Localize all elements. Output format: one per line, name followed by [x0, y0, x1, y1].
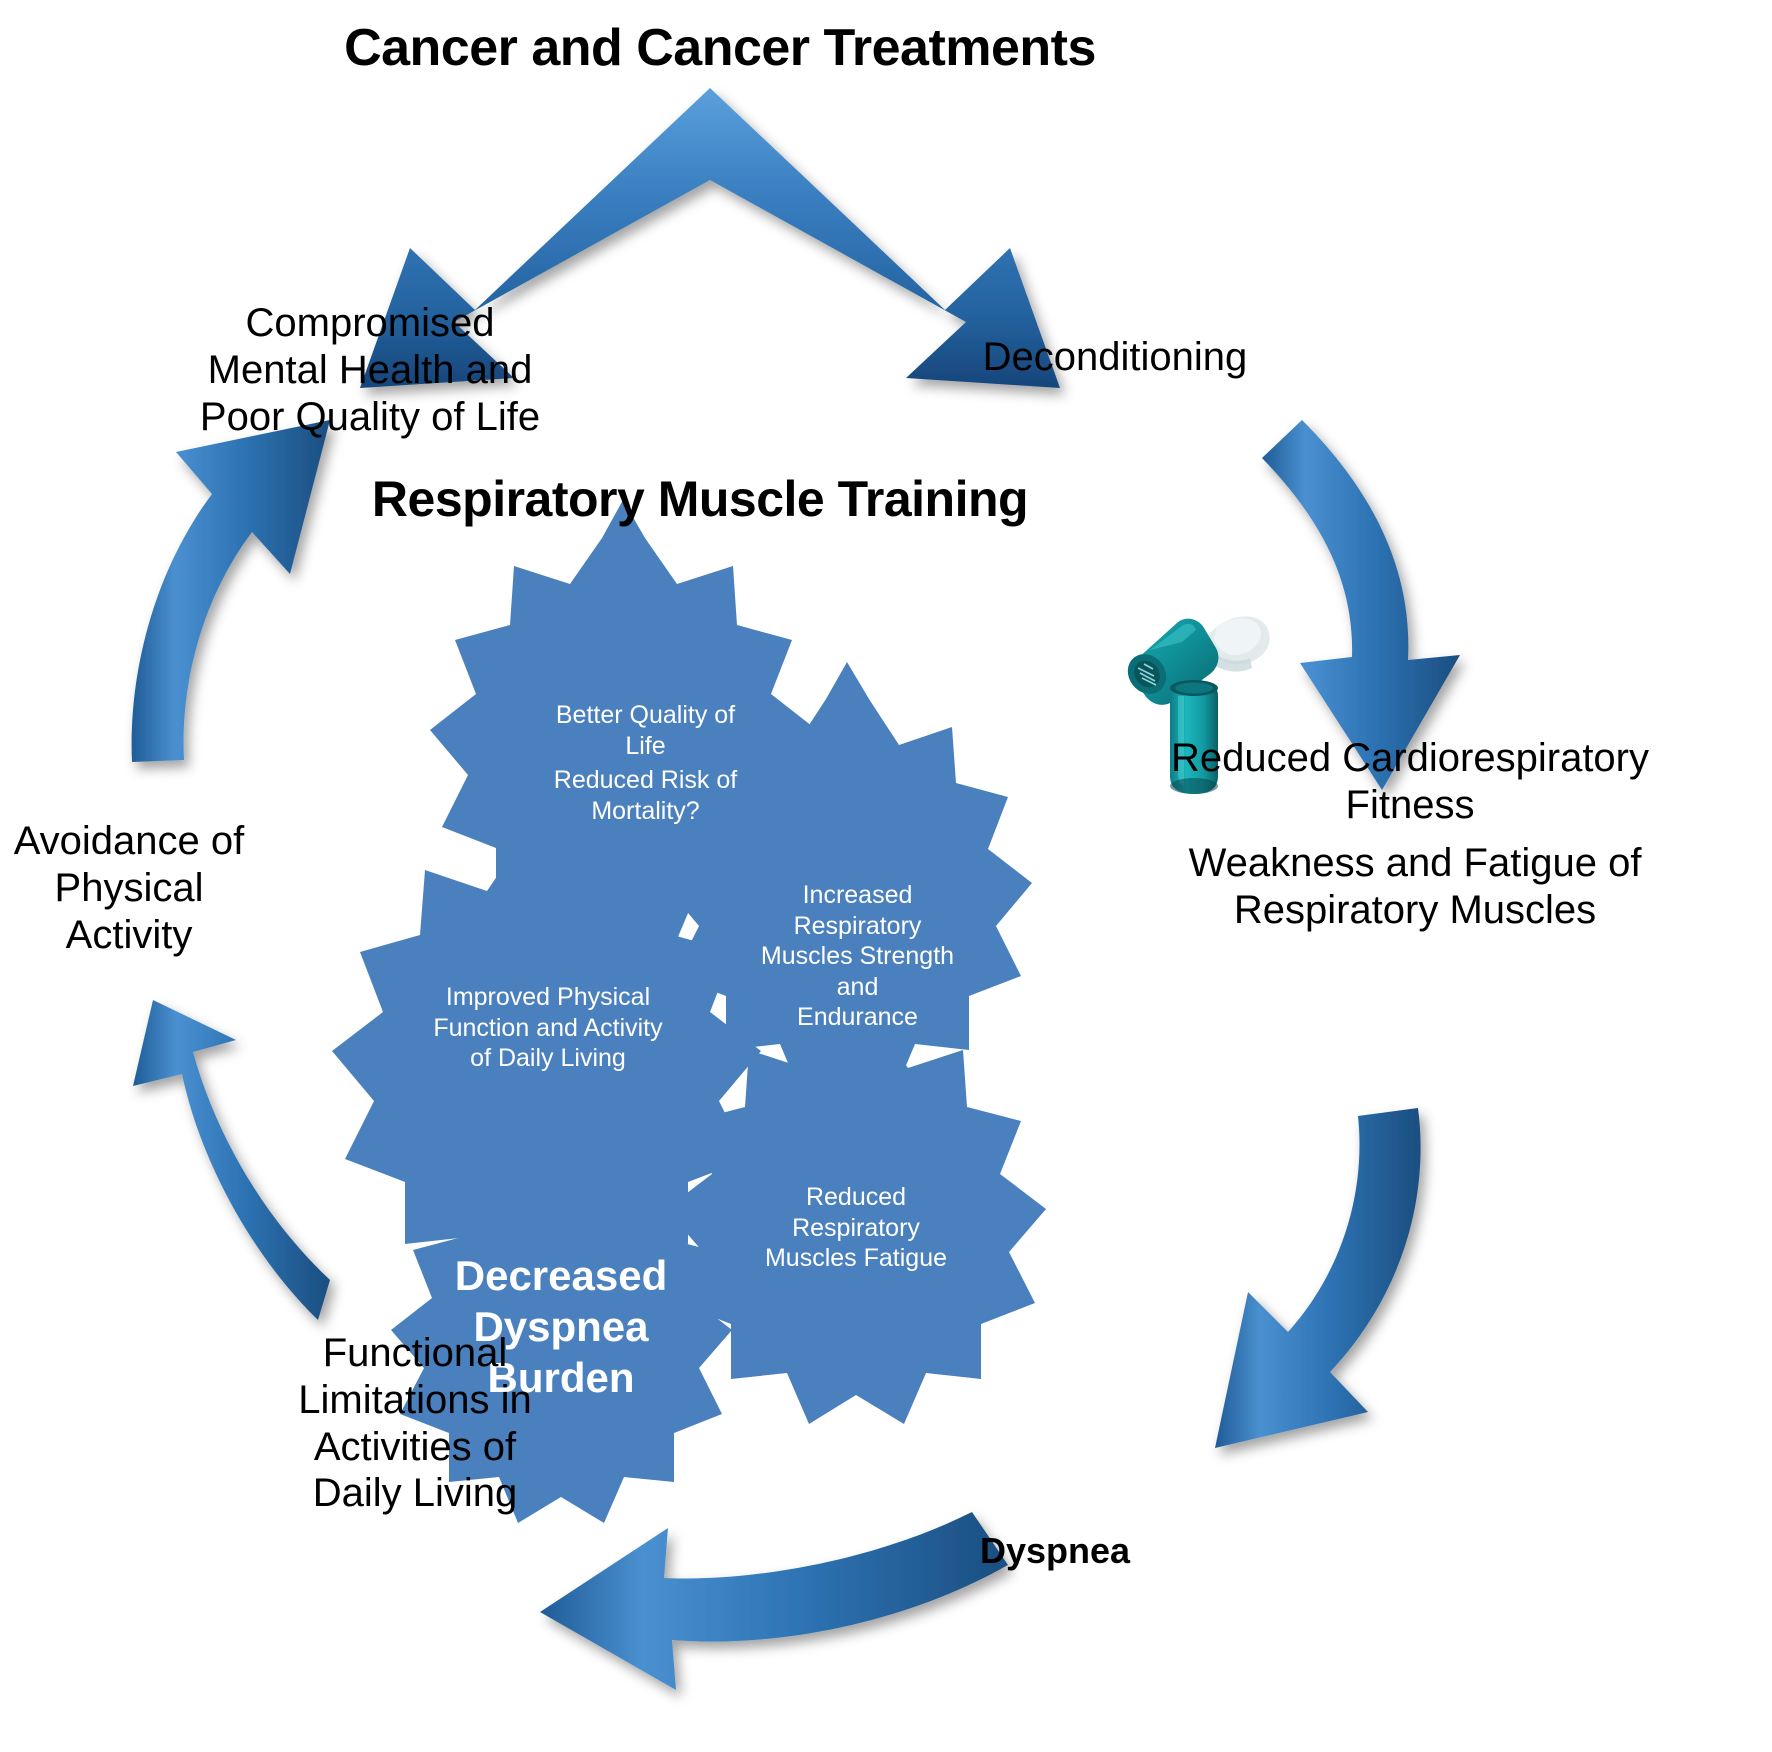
- label-reduced-cardiorespiratory-fitness: Reduced Cardiorespiratory Fitness: [1080, 735, 1740, 829]
- label-compromised-mental-health: Compromised Mental Health and Poor Quali…: [170, 300, 570, 440]
- label-deconditioning: Deconditioning: [900, 334, 1330, 381]
- label-weakness-and-fatigue-of-respiratory-muscles: Weakness and Fatigue of Respiratory Musc…: [1090, 840, 1740, 934]
- label-functional-limitations: Functional Limitations in Activities of …: [290, 1330, 540, 1517]
- section-title-respiratory-muscle-training: Respiratory Muscle Training: [240, 470, 1160, 529]
- arrow-weakness-to-dyspnea: [1215, 1108, 1421, 1448]
- arrow-limitations-to-avoidance: [133, 1000, 330, 1320]
- label-dyspnea: Dyspnea: [860, 1530, 1250, 1572]
- diagram-canvas: Better Quality of Life Reduced Risk of M…: [0, 0, 1772, 1752]
- page-title-cancer-and-cancer-treatments: Cancer and Cancer Treatments: [0, 18, 1440, 79]
- label-avoidance-of-physical-activity: Avoidance of Physical Activity: [0, 818, 258, 958]
